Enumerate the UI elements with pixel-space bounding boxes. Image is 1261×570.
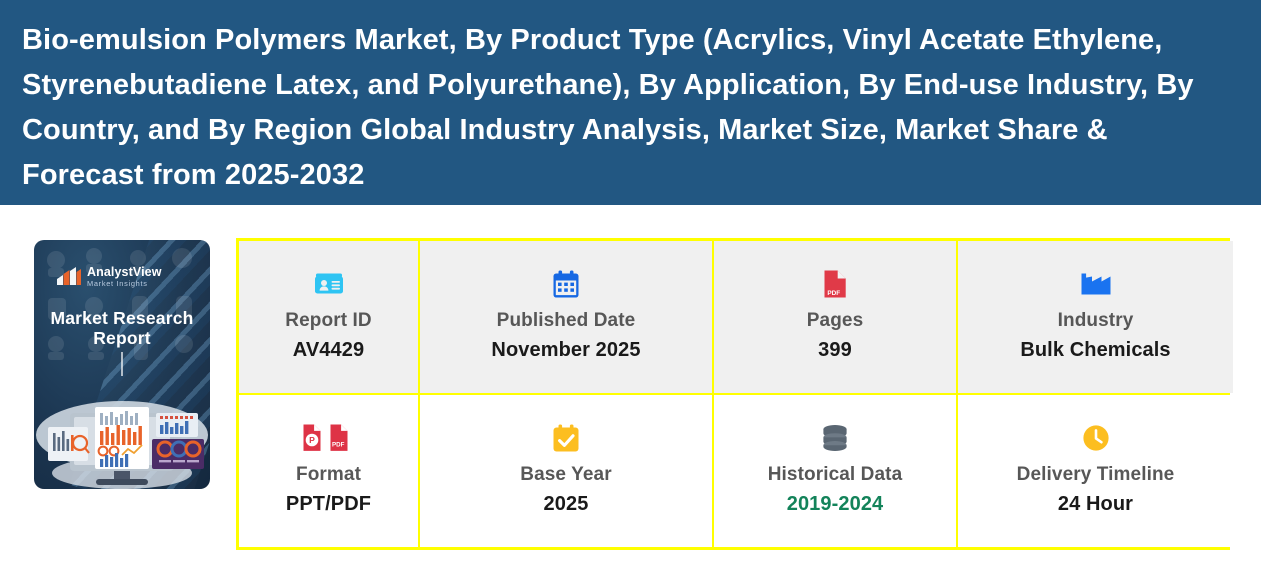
- logo-brand-name: AnalystView: [87, 266, 162, 279]
- info-value: 24 Hour: [1058, 491, 1133, 517]
- info-label: Report ID: [285, 309, 371, 333]
- logo-bars-icon: [56, 266, 82, 286]
- info-label: Industry: [1058, 309, 1134, 333]
- info-value: 2019-2024: [787, 491, 884, 517]
- info-label: Format: [296, 463, 361, 487]
- info-value: 2025: [544, 491, 589, 517]
- report-info-grid: Report ID AV4429: [236, 238, 1230, 550]
- info-cell-base-year: Base Year 2025: [420, 395, 712, 547]
- svg-text:P: P: [309, 435, 315, 445]
- info-value: PPT/PDF: [286, 491, 371, 517]
- info-cell-pages: PDF Pages 399: [714, 241, 956, 393]
- info-label: Historical Data: [768, 463, 903, 487]
- cover-heading: Market Research Report: [34, 308, 210, 348]
- info-cell-published-date: Published Date November 2025: [420, 241, 712, 393]
- info-value: 399: [818, 337, 852, 363]
- database-icon: [820, 421, 850, 455]
- cover-watermark-icons: [34, 240, 210, 370]
- info-cell-historical-data: Historical Data 2019-2024: [714, 395, 956, 547]
- cover-heading-line-2: Report: [93, 328, 151, 348]
- info-value: Bulk Chemicals: [1020, 337, 1170, 363]
- clock-icon: [1082, 421, 1110, 455]
- logo-text: AnalystView Market Insights: [87, 266, 162, 287]
- calendar-icon: [552, 267, 580, 301]
- report-summary-page: Bio-emulsion Polymers Market, By Product…: [0, 0, 1261, 570]
- logo-tagline: Market Insights: [87, 280, 162, 287]
- info-label: Published Date: [497, 309, 636, 333]
- info-cell-industry: Industry Bulk Chemicals: [958, 241, 1233, 393]
- report-cover-thumbnail[interactable]: AnalystView Market Insights Market Resea…: [32, 238, 212, 491]
- info-cell-report-id: Report ID AV4429: [239, 241, 418, 393]
- cover-heading-line-1: Market Research: [50, 308, 193, 328]
- info-cell-delivery-timeline: Delivery Timeline 24 Hour: [958, 395, 1233, 547]
- svg-text:PDF: PDF: [332, 441, 345, 448]
- info-label: Base Year: [520, 463, 611, 487]
- calendar-check-icon: [552, 421, 580, 455]
- cover-illustration: [34, 369, 210, 489]
- ppt-and-pdf-file-icon: P PDF: [302, 421, 356, 455]
- report-cover-card: AnalystView Market Insights Market Resea…: [34, 240, 210, 489]
- id-card-icon: [314, 267, 344, 301]
- pdf-file-icon: PDF: [823, 267, 847, 301]
- analystview-logo: AnalystView Market Insights: [56, 266, 190, 287]
- factory-icon: [1080, 267, 1112, 301]
- page-title: Bio-emulsion Polymers Market, By Product…: [22, 18, 1217, 198]
- svg-text:PDF: PDF: [827, 290, 840, 297]
- info-value: AV4429: [293, 337, 364, 363]
- report-body: AnalystView Market Insights Market Resea…: [0, 205, 1261, 570]
- info-value: November 2025: [491, 337, 640, 363]
- report-header-banner: Bio-emulsion Polymers Market, By Product…: [0, 0, 1261, 205]
- info-label: Delivery Timeline: [1017, 463, 1175, 487]
- info-cell-format: P PDF Format PPT/PDF: [239, 395, 418, 547]
- info-label: Pages: [807, 309, 863, 333]
